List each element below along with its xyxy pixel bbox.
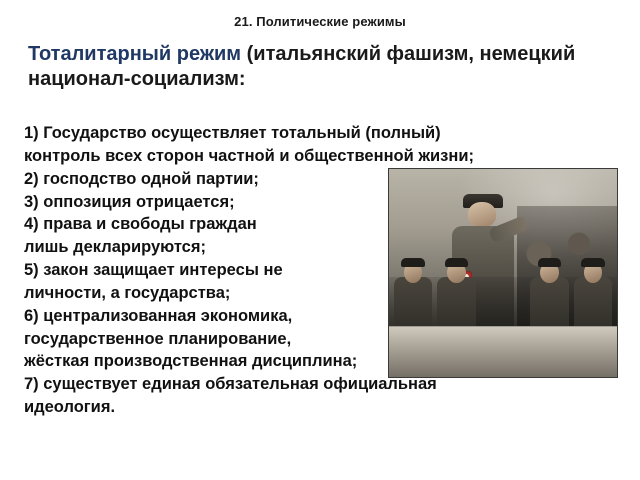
slide-photograph [388, 168, 618, 378]
slide-title: Тоталитарный режим (итальянский фашизм, … [28, 42, 618, 91]
slide: 21. Политические режимы Тоталитарный реж… [0, 0, 640, 480]
body-line: контроль всех сторон частной и обществен… [24, 145, 620, 168]
title-main-text: Тоталитарный режим [28, 43, 241, 65]
body-line: идеология. [24, 396, 620, 419]
photograph-image [389, 169, 617, 377]
slide-header: 21. Политические режимы [0, 14, 640, 29]
photo-vehicle [388, 326, 618, 378]
body-line: 1) Государство осуществляет тотальный (п… [24, 122, 620, 145]
photo-figure-head [468, 202, 496, 227]
